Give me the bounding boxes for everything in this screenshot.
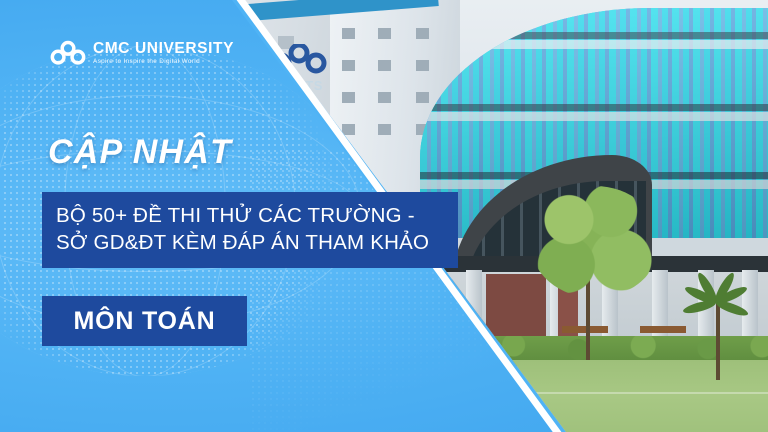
- logo-name: CMC UNIVERSITY: [93, 41, 234, 57]
- title-line-1: BỘ 50+ ĐỀ THI THỬ CÁC TRƯỜNG -: [56, 202, 444, 229]
- bench: [562, 326, 608, 333]
- eyebrow-heading: CẬP NHẬT: [48, 133, 232, 172]
- palm-trunk: [716, 300, 720, 380]
- bench: [640, 326, 686, 333]
- title-box: BỘ 50+ ĐỀ THI THỬ CÁC TRƯỜNG - SỞ GD&ĐT …: [42, 192, 458, 268]
- cmc-university-logo: CMC UNIVERSITY Aspire to Inspire the Dig…: [50, 40, 234, 66]
- subject-box: MÔN TOÁN: [42, 296, 247, 346]
- promo-banner: SPORTS HALL: [0, 0, 768, 432]
- title-line-2: SỞ GD&ĐT KÈM ĐÁP ÁN THAM KHẢO: [56, 229, 444, 256]
- cmc-infinity-mark-icon: [50, 40, 86, 66]
- tree-canopy: [530, 186, 660, 298]
- logo-tagline: Aspire to Inspire the Digital World: [93, 59, 234, 65]
- subject-label: MÔN TOÁN: [73, 307, 215, 336]
